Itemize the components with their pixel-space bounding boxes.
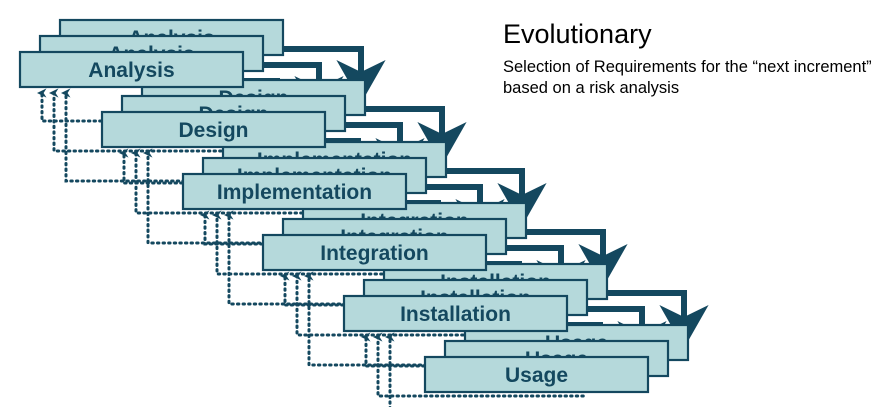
stage-box-usage: Usage [425, 357, 648, 392]
stage-box-integration: Integration [263, 235, 486, 270]
stage-label: Usage [505, 364, 568, 387]
stage-label: Design [178, 119, 248, 142]
stage-box-analysis: Analysis [20, 52, 243, 87]
callout-description: Selection of Requirements for the “next … [503, 57, 878, 99]
diagram-canvas: AnalysisDesignImplementationIntegrationI… [0, 0, 881, 407]
stage-label: Integration [320, 242, 429, 265]
stage-label: Installation [400, 303, 511, 326]
stage-box-implementation: Implementation [183, 174, 406, 209]
stage-label: Analysis [88, 59, 174, 82]
stage-box-design: Design [102, 112, 325, 147]
stage-label: Implementation [217, 181, 372, 204]
callout-title: Evolutionary [503, 19, 652, 49]
stage-box-installation: Installation [344, 296, 567, 331]
